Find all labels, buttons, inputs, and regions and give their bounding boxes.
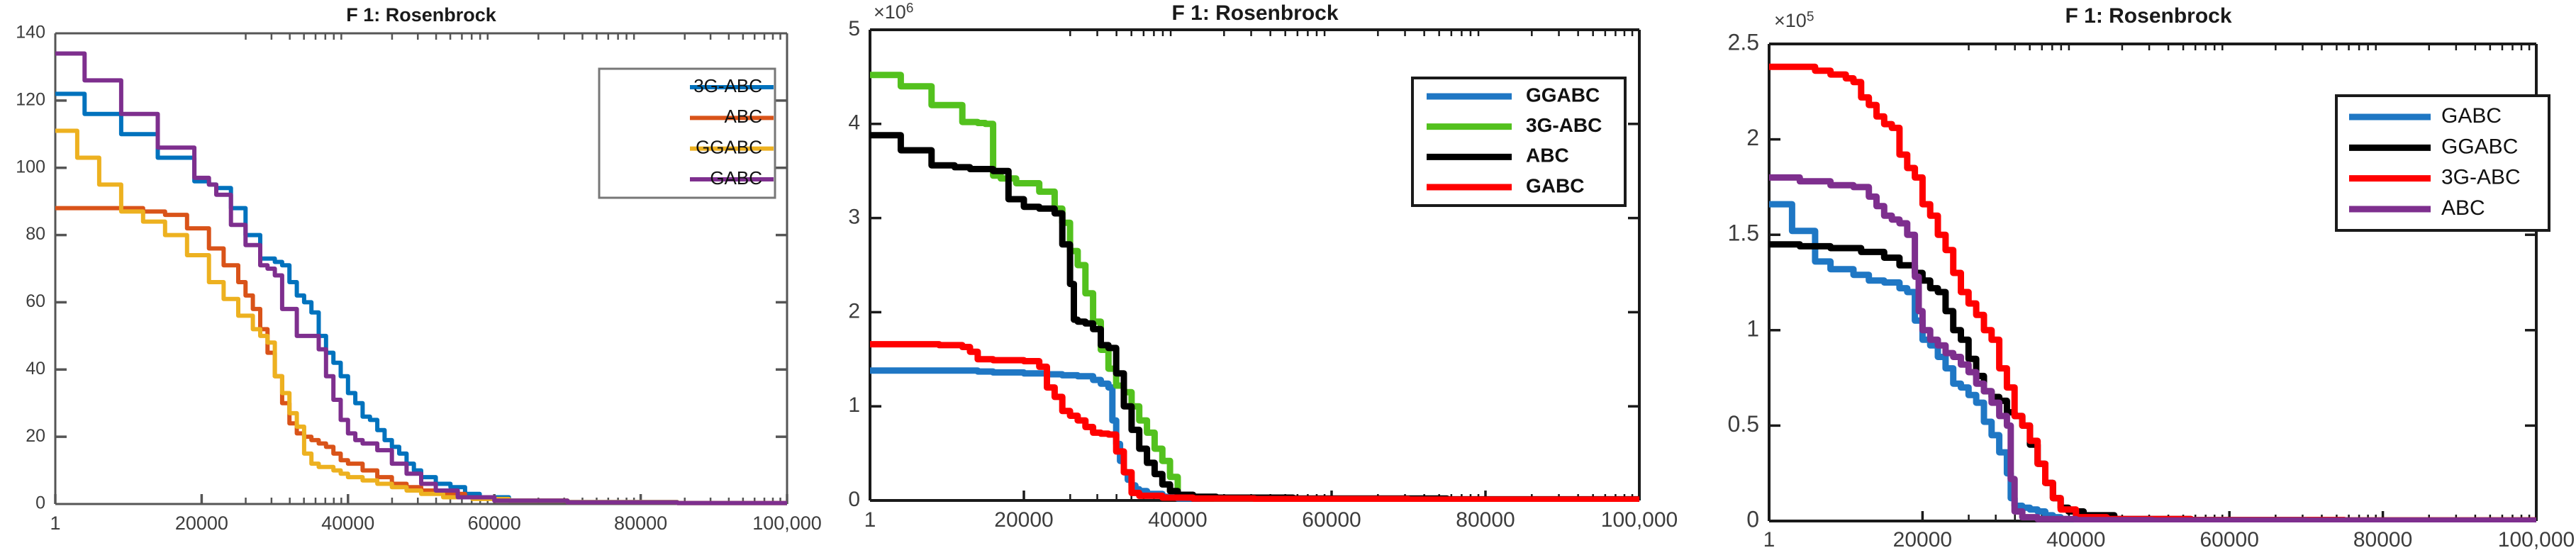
y-axis-tick-label: 3	[848, 206, 860, 229]
chart-title: F 1: Rosenbrock	[346, 4, 497, 26]
x-axis-tick-label: 80000	[1456, 508, 1515, 532]
panel-1-svg: F 1: Rosenbrock120000400006000080000100,…	[0, 0, 837, 560]
legend-label-abc: ABC	[1526, 145, 1569, 167]
legend-label-gabc: GABC	[710, 167, 762, 189]
y-axis-tick-label: 140	[16, 23, 45, 43]
legend-label-abc: ABC	[725, 106, 762, 127]
panel-3-svg: F 1: Rosenbrock×105120000400006000080000…	[1709, 0, 2576, 560]
legend-label-3g-abc: 3G-ABC	[693, 75, 762, 96]
x-axis-tick-label: 20000	[994, 508, 1053, 532]
x-axis-tick-label: 1	[50, 513, 60, 534]
y-axis-tick-label: 2	[848, 299, 860, 323]
x-axis-tick-label: 100,000	[2498, 528, 2575, 551]
chart-panel-3: F 1: Rosenbrock×105120000400006000080000…	[1709, 0, 2576, 560]
legend-label-ggabc: GGABC	[2441, 135, 2518, 158]
y-axis-tick-label: 2	[1746, 125, 1759, 150]
series-line-gabc	[870, 345, 1639, 500]
series-line-ggabc	[1769, 245, 2536, 521]
legend[interactable]: 3G-ABCABCGGABCGABC	[599, 69, 775, 198]
y-axis-tick-label: 40	[26, 359, 45, 379]
chart-panel-1: F 1: Rosenbrock120000400006000080000100,…	[0, 0, 837, 560]
series-line-abc	[55, 208, 787, 503]
x-axis-tick-label: 1	[1763, 528, 1775, 551]
y-axis-tick-label: 1	[1746, 315, 1759, 341]
x-axis-tick-label: 40000	[321, 513, 374, 534]
y-axis-exponent-label: ×105	[1774, 9, 1814, 31]
chart-title: F 1: Rosenbrock	[2065, 4, 2231, 28]
chart-title: F 1: Rosenbrock	[1171, 1, 1338, 25]
x-axis-tick-label: 40000	[2046, 528, 2105, 551]
legend-label-abc: ABC	[2441, 196, 2485, 220]
legend-label-ggabc: GGABC	[1526, 84, 1600, 106]
y-axis-tick-label: 4	[848, 111, 860, 135]
x-axis-tick-label: 80000	[2353, 528, 2412, 551]
y-axis-tick-label: 20	[26, 426, 45, 446]
x-axis-tick-label: 20000	[1893, 528, 1952, 551]
x-axis-tick-label: 60000	[1302, 508, 1361, 532]
x-axis-tick-label: 20000	[175, 513, 228, 534]
y-axis-tick-label: 0	[848, 488, 860, 511]
y-axis-tick-label: 2.5	[1728, 29, 1759, 55]
y-axis-tick-label: 0	[1746, 506, 1759, 532]
y-axis-tick-label: 60	[26, 291, 45, 311]
y-axis-tick-label: 100	[16, 157, 45, 177]
x-axis-tick-label: 80000	[614, 513, 667, 534]
legend-label-gabc: GABC	[1526, 174, 1584, 196]
x-axis-tick-label: 100,000	[752, 513, 822, 534]
y-axis-tick-label: 1	[848, 393, 860, 417]
y-axis-tick-label: 0	[35, 493, 45, 513]
x-axis-tick-label: 40000	[1148, 508, 1207, 532]
x-axis-tick-label: 100,000	[1601, 508, 1678, 532]
y-axis-exponent-label: ×106	[874, 1, 913, 23]
series-line-ggabc	[870, 371, 1639, 500]
panel-2-svg: F 1: Rosenbrock×106120000400006000080000…	[837, 0, 1709, 560]
y-axis-tick-label: 0.5	[1728, 411, 1759, 437]
y-axis-tick-label: 1.5	[1728, 220, 1759, 246]
y-axis-tick-label: 80	[26, 224, 45, 244]
x-axis-tick-label: 60000	[2199, 528, 2258, 551]
figure-root: F 1: Rosenbrock120000400006000080000100,…	[0, 0, 2576, 560]
legend-label-ggabc: GGABC	[696, 137, 762, 158]
legend-label-3g-abc: 3G-ABC	[1526, 114, 1602, 136]
chart-panel-2: F 1: Rosenbrock×106120000400006000080000…	[837, 0, 1709, 560]
legend-label-3g-abc: 3G-ABC	[2441, 166, 2521, 189]
x-axis-tick-label: 60000	[468, 513, 521, 534]
x-axis-tick-label: 1	[864, 508, 876, 532]
legend-label-gabc: GABC	[2441, 104, 2502, 128]
legend[interactable]: GABCGGABC3G-ABCABC	[2336, 96, 2549, 230]
legend[interactable]: GGABC3G-ABCABCGABC	[1412, 78, 1625, 206]
y-axis-tick-label: 5	[848, 17, 860, 40]
y-axis-tick-label: 120	[16, 89, 45, 109]
